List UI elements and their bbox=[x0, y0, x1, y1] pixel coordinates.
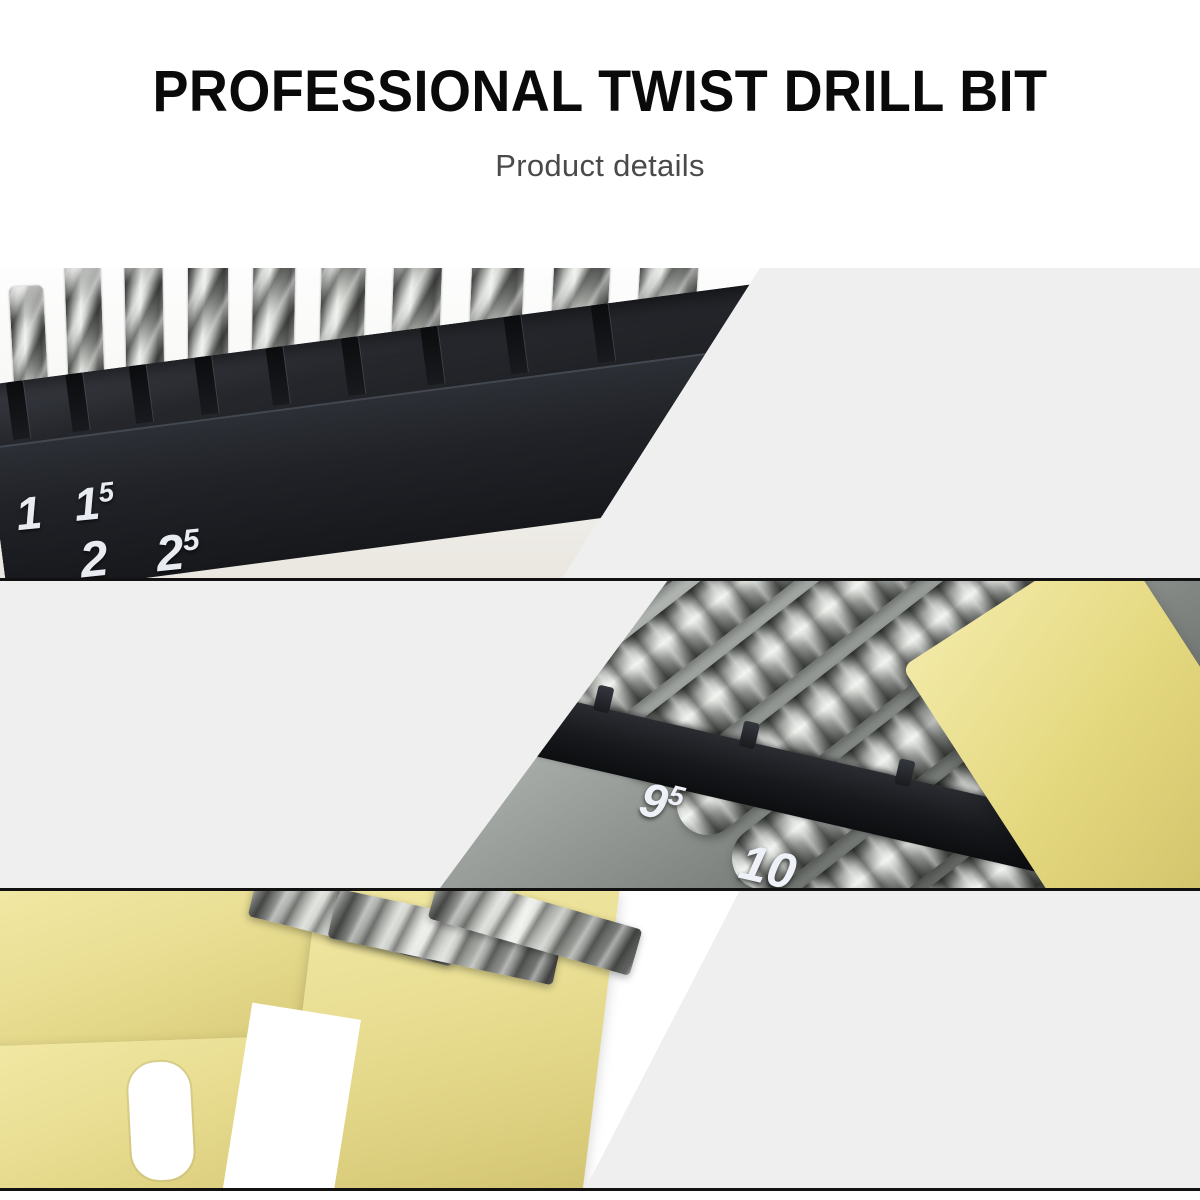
band-separator bbox=[0, 1188, 1200, 1191]
feature-band-3: LIGHT WEIGHT bbox=[0, 890, 1200, 1190]
handle-cutout bbox=[127, 1060, 195, 1181]
band-separator bbox=[0, 578, 1200, 581]
feature-band-2: 95 10 ACCURATE POSITIONING bbox=[0, 580, 1200, 888]
page-title: PROFESSIONAL TWIST DRILL BIT bbox=[42, 62, 1158, 123]
page-subtitle: Product details bbox=[0, 148, 1200, 184]
feature-band-1: 1 15 2 25 OBTUSE ANGLE DESIGN bbox=[0, 268, 1200, 578]
size-marking: 15 bbox=[71, 474, 117, 532]
band-separator bbox=[0, 888, 1200, 891]
size-marking: 1 bbox=[13, 485, 44, 541]
size-marking: 25 bbox=[153, 521, 203, 578]
page-header: PROFESSIONAL TWIST DRILL BIT Product det… bbox=[0, 0, 1200, 268]
product-detail-page: PROFESSIONAL TWIST DRILL BIT Product det… bbox=[0, 0, 1200, 1200]
size-marking: 2 bbox=[77, 529, 111, 578]
